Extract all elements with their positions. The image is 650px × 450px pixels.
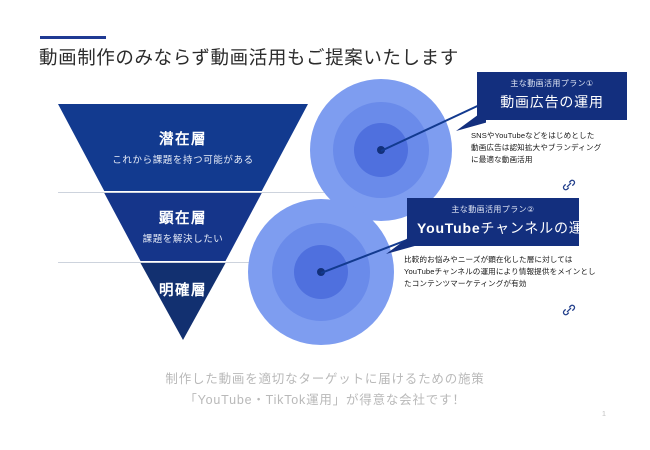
slide-canvas: 動画制作のみならず動画活用もご提案いたします 潜在層 これから課題を持つ可能があ…: [0, 0, 650, 450]
callout-plan-1-desc-line-2: 動画広告は認知拡大やブランディング: [471, 142, 641, 154]
callout-plan-2-headline-brand: YouTube: [417, 220, 480, 236]
footer-tagline: 制作した動画を適切なターゲットに届けるための施策 「YouTube・TikTok…: [0, 369, 650, 410]
funnel-divider-upper: [58, 192, 366, 193]
callout-plan-2-headline-rest: チャンネルの運用: [480, 220, 598, 236]
footer-tagline-line-2: 「YouTube・TikTok運用」が得意な会社です！: [0, 390, 650, 411]
callout-plan-1: 主な動画活用プラン① 動画広告の運用: [477, 72, 627, 120]
callout-plan-1-kicker: 主な動画活用プラン①: [487, 78, 617, 89]
callout-plan-2-description: 比較的お悩みやニーズが顕在化した層に対しては YouTubeチャンネルの運用によ…: [404, 254, 614, 289]
callout-plan-1-description: SNSやYouTubeなどをはじめとした 動画広告は認知拡大やブランディング に…: [471, 130, 641, 165]
callout-plan-2-desc-line-1: 比較的お悩みやニーズが顕在化した層に対しては: [404, 254, 614, 266]
title-accent-rule: [40, 36, 106, 39]
footer-tagline-line-1: 制作した動画を適切なターゲットに届けるための施策: [0, 369, 650, 390]
funnel-segment-potential: [58, 104, 308, 191]
page-title: 動画制作のみならず動画活用もご提案いたします: [39, 44, 459, 70]
callout-plan-2-headline: YouTubeチャンネルの運用: [417, 218, 569, 238]
callout-plan-1-desc-line-1: SNSやYouTubeなどをはじめとした: [471, 130, 641, 142]
link-icon: [561, 177, 577, 193]
page-number: 1: [602, 409, 606, 418]
callout-plan-2-kicker: 主な動画活用プラン②: [417, 204, 569, 215]
callout-plan-2-desc-line-3: たコンテンツマーケティングが有効: [404, 278, 614, 290]
callout-plan-2: 主な動画活用プラン② YouTubeチャンネルの運用: [407, 198, 579, 246]
callout-plan-1-headline: 動画広告の運用: [487, 92, 617, 112]
link-icon: [561, 302, 577, 318]
callout-plan-1-desc-line-3: に最適な動画活用: [471, 154, 641, 166]
callout-plan-2-desc-line-2: YouTubeチャンネルの運用により情報提供をメインとし: [404, 266, 614, 278]
